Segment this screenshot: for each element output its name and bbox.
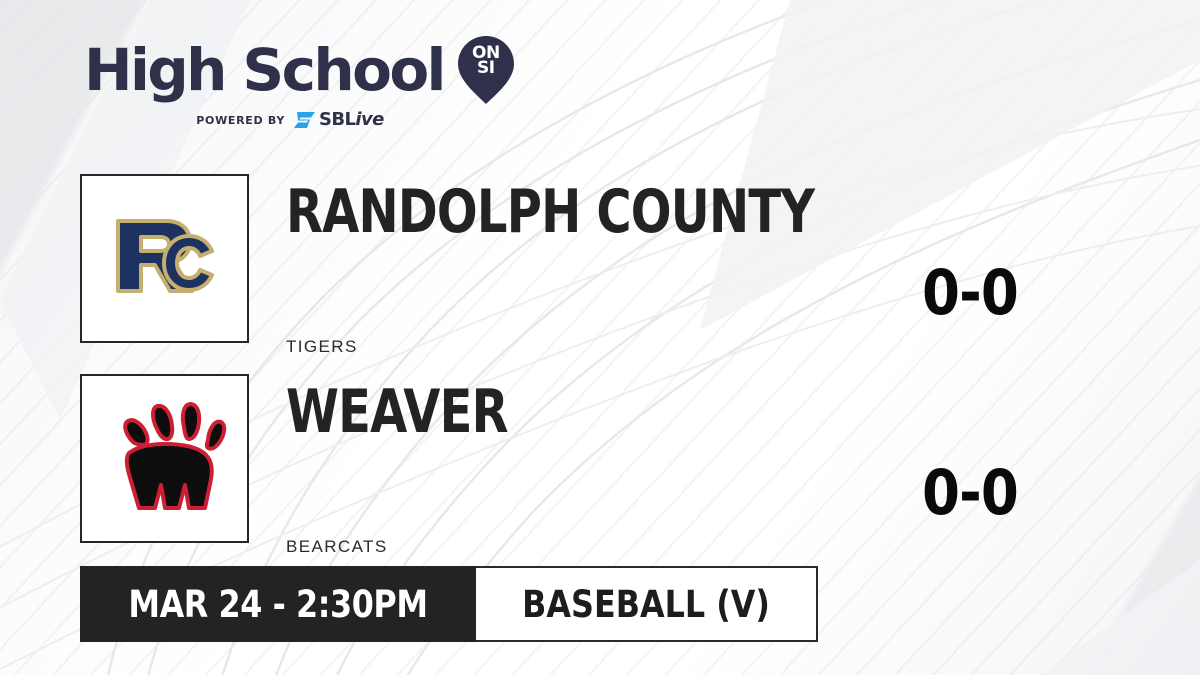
game-datetime-badge: MAR 24 - 2:30PM (80, 566, 476, 642)
team-name-home: WEAVER (286, 382, 508, 442)
team-name-away: RANDOLPH COUNTY (286, 182, 814, 242)
team-mascot-home: BEARCATS (286, 537, 388, 557)
sblive-logo: SBLive (294, 110, 384, 130)
game-sport-badge: BASEBALL (V) (476, 566, 818, 642)
rc-monogram-icon (100, 199, 230, 319)
onsi-pin-text: ON SI (458, 46, 514, 76)
team-record-away: 0-0 (873, 262, 1067, 324)
team-record-home: 0-0 (873, 462, 1067, 524)
team-logo-randolph-county (80, 174, 249, 343)
game-sport-text: BASEBALL (V) (522, 583, 770, 626)
matchup-graphic: High School ON SI POWERED BY SBLive (0, 0, 1200, 675)
sblive-word-sbl: SBL (319, 109, 355, 130)
sblive-wordmark: SBLive (319, 111, 384, 129)
team-logo-weaver (80, 374, 249, 543)
bearcat-paw-icon (99, 395, 231, 523)
sblive-word-ive: ive (355, 109, 383, 130)
pin-line-si: SI (458, 61, 514, 76)
sblive-bolt-icon (294, 110, 316, 130)
game-datetime-text: MAR 24 - 2:30PM (128, 583, 427, 626)
brand-title-row: High School ON SI (84, 36, 514, 104)
onsi-pin-icon: ON SI (458, 36, 514, 104)
powered-by-row: POWERED BY SBLive (66, 110, 514, 130)
game-info-bar: MAR 24 - 2:30PM BASEBALL (V) (80, 566, 818, 642)
team-mascot-away: TIGERS (286, 337, 358, 357)
page-title: High School (84, 41, 444, 99)
powered-by-label: POWERED BY (196, 114, 285, 127)
brand-lockup: High School ON SI POWERED BY SBLive (84, 36, 514, 130)
